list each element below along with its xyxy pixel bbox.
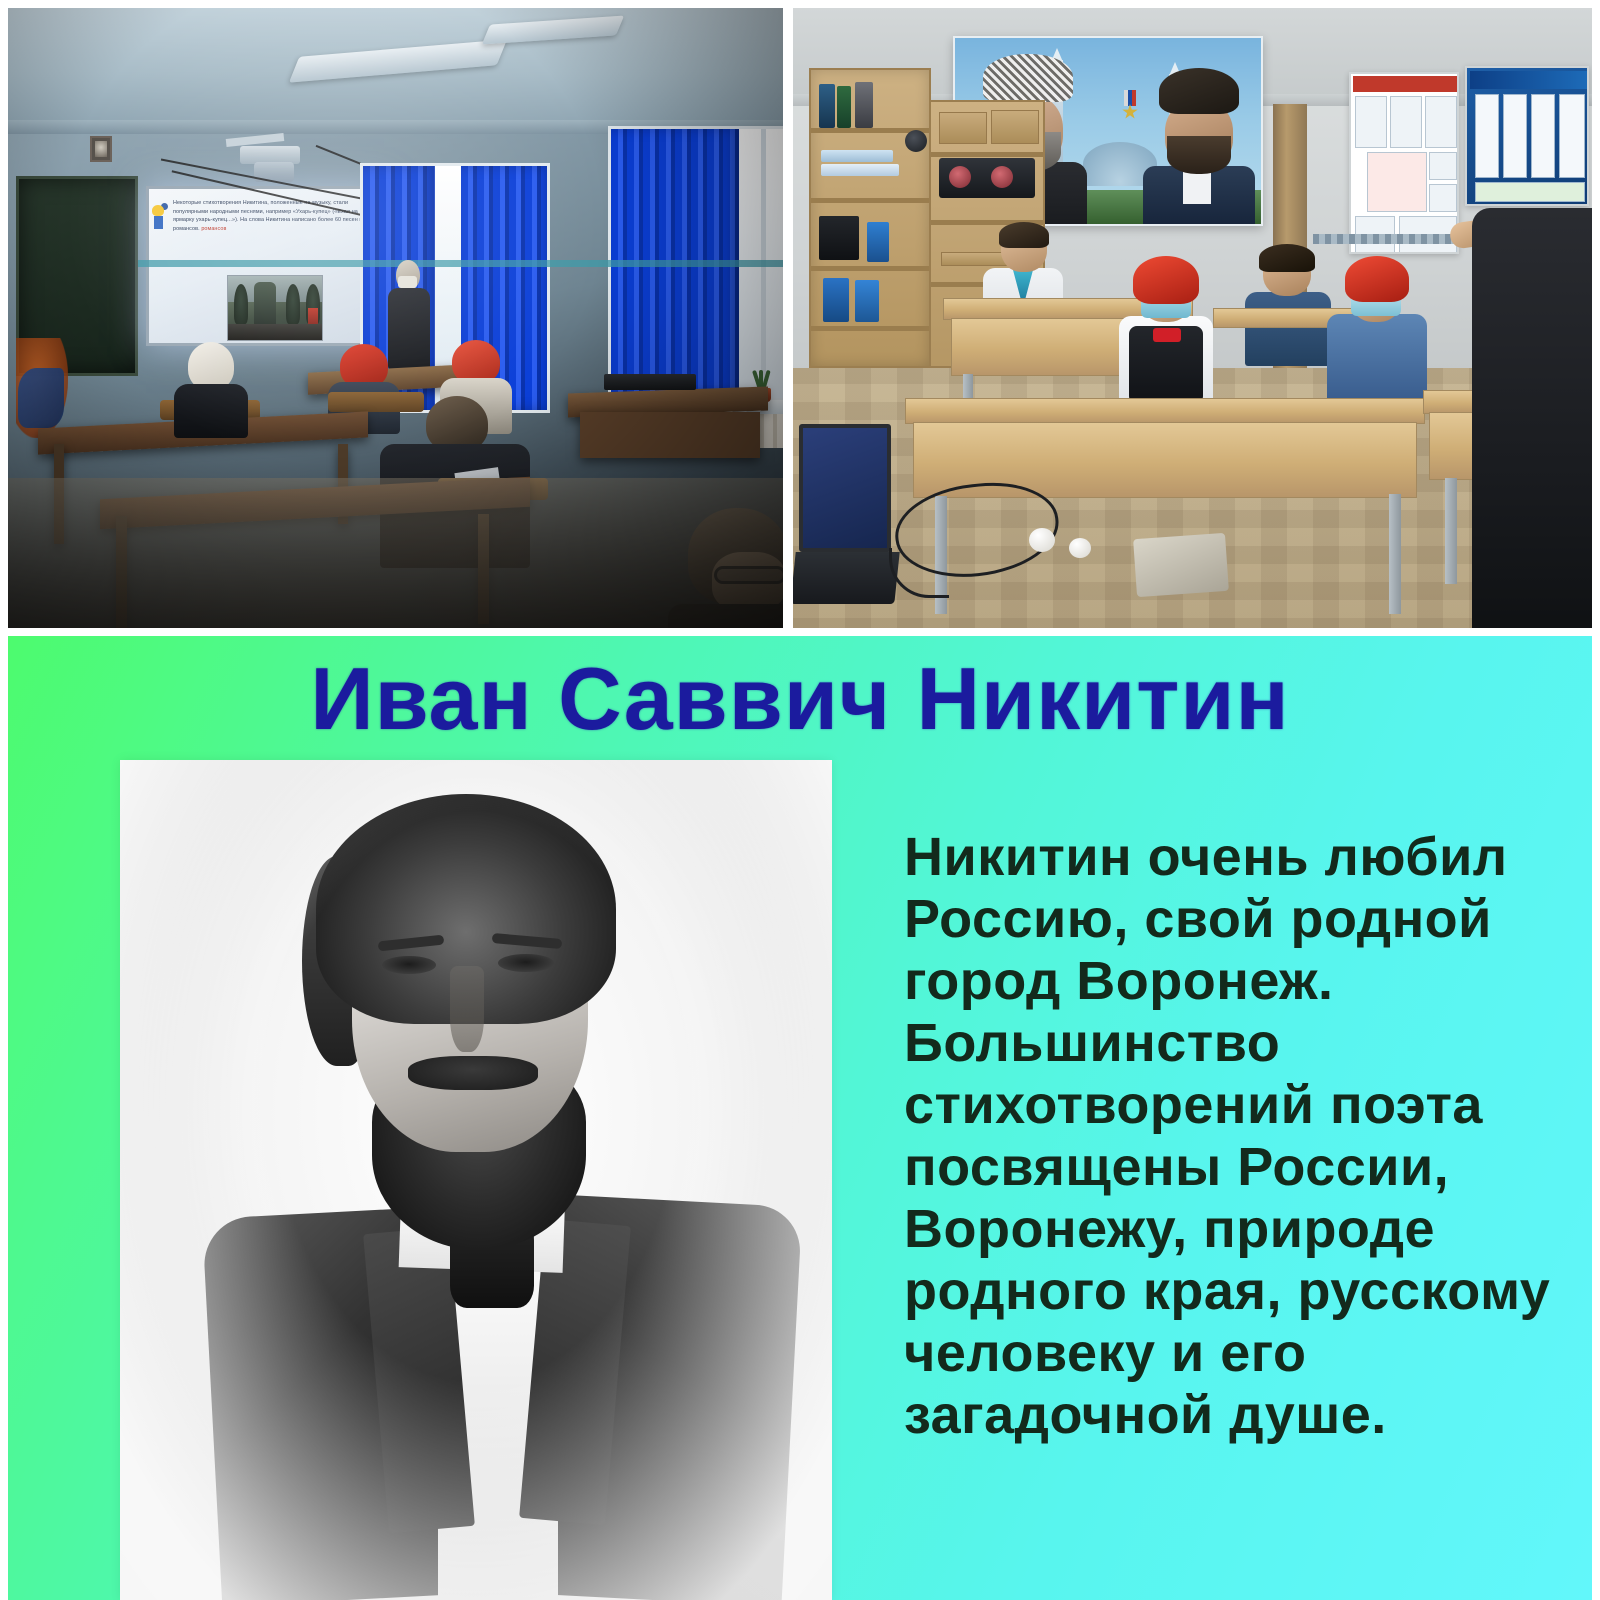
wall-portrait-frame bbox=[90, 136, 112, 162]
monitor bbox=[604, 374, 696, 390]
floor bbox=[8, 478, 783, 628]
laptop bbox=[799, 424, 895, 604]
poet-portrait-image bbox=[120, 760, 832, 1600]
slide-decoration-icon bbox=[151, 205, 167, 231]
desk bbox=[905, 398, 1425, 424]
bookshelf bbox=[809, 68, 931, 368]
slide-title: Иван Саввич Никитин bbox=[8, 648, 1592, 750]
presentation-slide: Иван Саввич Никитин bbox=[8, 636, 1592, 1600]
laptop-keyboard bbox=[793, 552, 900, 604]
wall-decoration bbox=[18, 368, 64, 428]
desk-leg bbox=[1445, 478, 1457, 584]
pupil-boy-denim bbox=[1245, 244, 1331, 364]
pupil-girl-red-scarf bbox=[1111, 256, 1221, 406]
projected-slide-image bbox=[227, 275, 323, 341]
projected-slide-text: Некоторые стихотворения Никитина, положе… bbox=[173, 199, 373, 233]
portrait-frame bbox=[120, 760, 832, 1600]
laptop-screen bbox=[799, 424, 891, 552]
paper-ball bbox=[1069, 538, 1091, 558]
information-poster-red bbox=[1349, 72, 1459, 254]
cloth bbox=[1133, 533, 1229, 597]
pupil bbox=[168, 342, 254, 434]
wall-stripe bbox=[138, 260, 783, 267]
classroom-pupils-photo-right bbox=[793, 8, 1592, 628]
information-poster-blue bbox=[1465, 66, 1589, 206]
medal-icon bbox=[1119, 90, 1141, 124]
paper-ball bbox=[1029, 528, 1055, 552]
desk-leg bbox=[1389, 494, 1401, 614]
teacher bbox=[1472, 208, 1592, 628]
camera-icon bbox=[905, 130, 927, 152]
banner-portrait-right bbox=[1143, 68, 1255, 226]
photo-collage: Некоторые стихотворения Никитина, положе… bbox=[0, 0, 1600, 1600]
pupil-girl-red-scarf bbox=[1323, 256, 1431, 408]
projected-slide-highlight: романсов bbox=[201, 226, 226, 232]
poster-header bbox=[1470, 71, 1588, 89]
poster-header bbox=[1353, 76, 1459, 92]
desk-front-panel bbox=[580, 412, 760, 458]
speaker bbox=[939, 158, 1035, 198]
slide-body-text: Никитин очень любил Россию, свой родной … bbox=[904, 826, 1592, 1446]
classroom-lesson-photo-left: Некоторые стихотворения Никитина, положе… bbox=[8, 8, 783, 628]
